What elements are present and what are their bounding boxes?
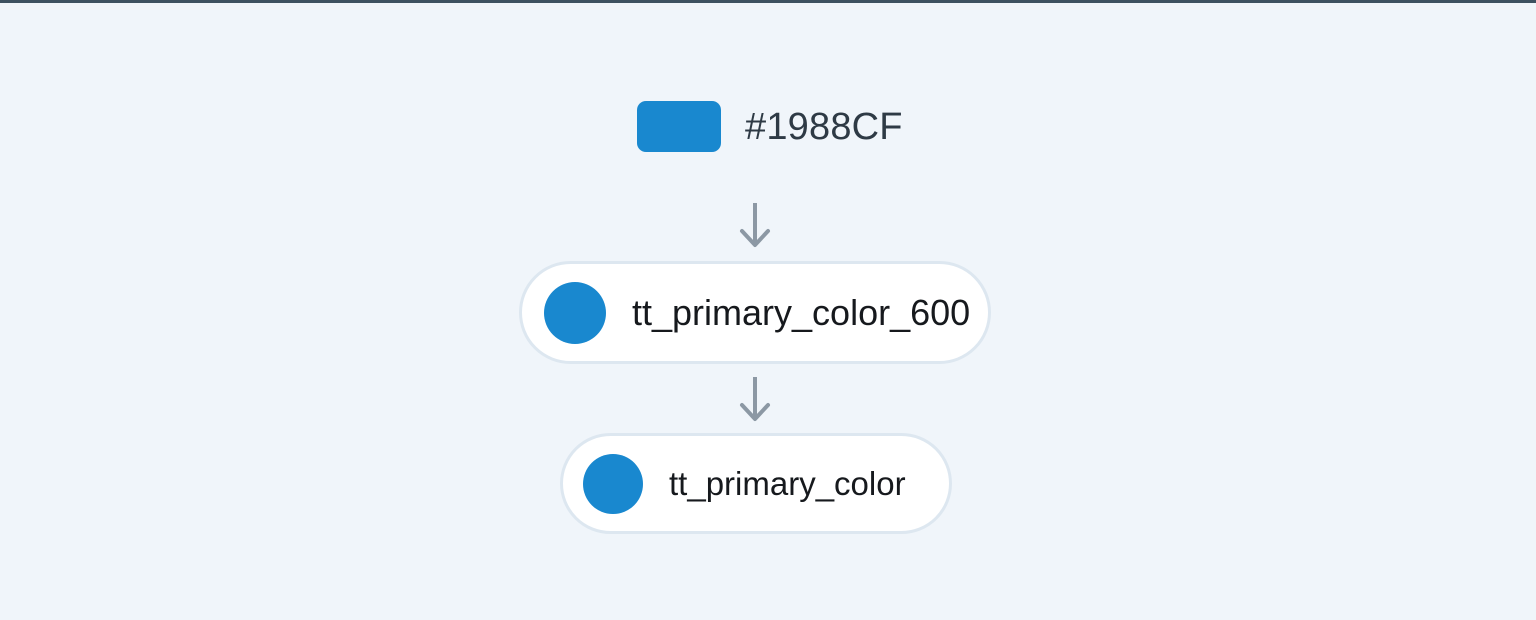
token-color-dot-icon: [544, 282, 606, 344]
arrow-source-to-token-600-icon: [735, 201, 775, 249]
arrow-token-600-to-token-base-icon: [735, 375, 775, 423]
token-color-dot-icon: [583, 454, 643, 514]
token-node-primary-color-600[interactable]: tt_primary_color_600: [519, 261, 991, 364]
source-color-row: #1988CF: [637, 101, 903, 152]
token-node-label: tt_primary_color: [669, 467, 906, 500]
color-swatch-rectangle[interactable]: [637, 101, 721, 152]
color-hex-label: #1988CF: [745, 108, 903, 146]
diagram-canvas: #1988CF tt_primary_color_600 tt_primary_…: [0, 3, 1536, 620]
token-node-label: tt_primary_color_600: [632, 295, 970, 331]
token-node-primary-color[interactable]: tt_primary_color: [560, 433, 952, 534]
